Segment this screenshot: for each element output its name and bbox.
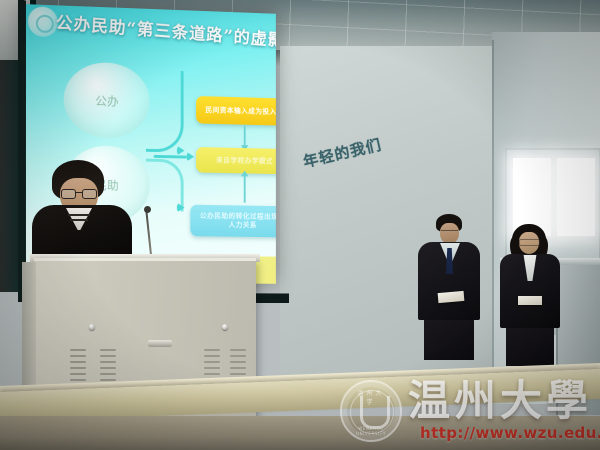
- slide-bubble-label: 公办: [95, 92, 119, 109]
- person-woman-in-suit: [498, 218, 562, 368]
- presenter-glasses-icon: [61, 189, 97, 197]
- slide-flow-box-blue: 公办民助的转化过程出现的 人力关系: [190, 205, 276, 238]
- person-man-in-suit: [418, 210, 482, 360]
- microphone-head-icon: [144, 206, 151, 213]
- slide-arrow-curve-top: [146, 70, 184, 153]
- podium-handle: [148, 340, 172, 347]
- slide-title: 公办民助“第三条道路”的虚影: [55, 8, 276, 50]
- slide-flow-box-gold: 民间资本输入成为投入人: [196, 96, 276, 126]
- slide-connector-1: [244, 126, 246, 146]
- floor: [0, 416, 600, 450]
- woman-held-card: [518, 296, 542, 305]
- man-glasses-icon: [441, 230, 458, 235]
- man-legs: [424, 318, 474, 360]
- wall-corner-edge: [492, 40, 494, 400]
- woman-legs: [506, 326, 554, 366]
- podium-lock-right: [222, 324, 228, 330]
- presenter-collar-stripe: [70, 219, 88, 221]
- globe-logo-icon: [28, 6, 58, 37]
- slide-connector-2: [244, 176, 246, 202]
- window-pane-right: [557, 158, 595, 236]
- woman-glasses-icon: [519, 239, 540, 246]
- slide-flow-box-pale: 来自学校办学模式: [196, 147, 276, 174]
- podium-lock-left: [89, 324, 95, 330]
- presenter-collar-stripe: [68, 214, 90, 216]
- screenshot-root: 年轻的我们 公办民助“第三条道路”的虚影 公办 民助 民间资本输入成为投入人 来: [0, 0, 600, 450]
- slide-bubble-gongban: 公办: [64, 61, 150, 139]
